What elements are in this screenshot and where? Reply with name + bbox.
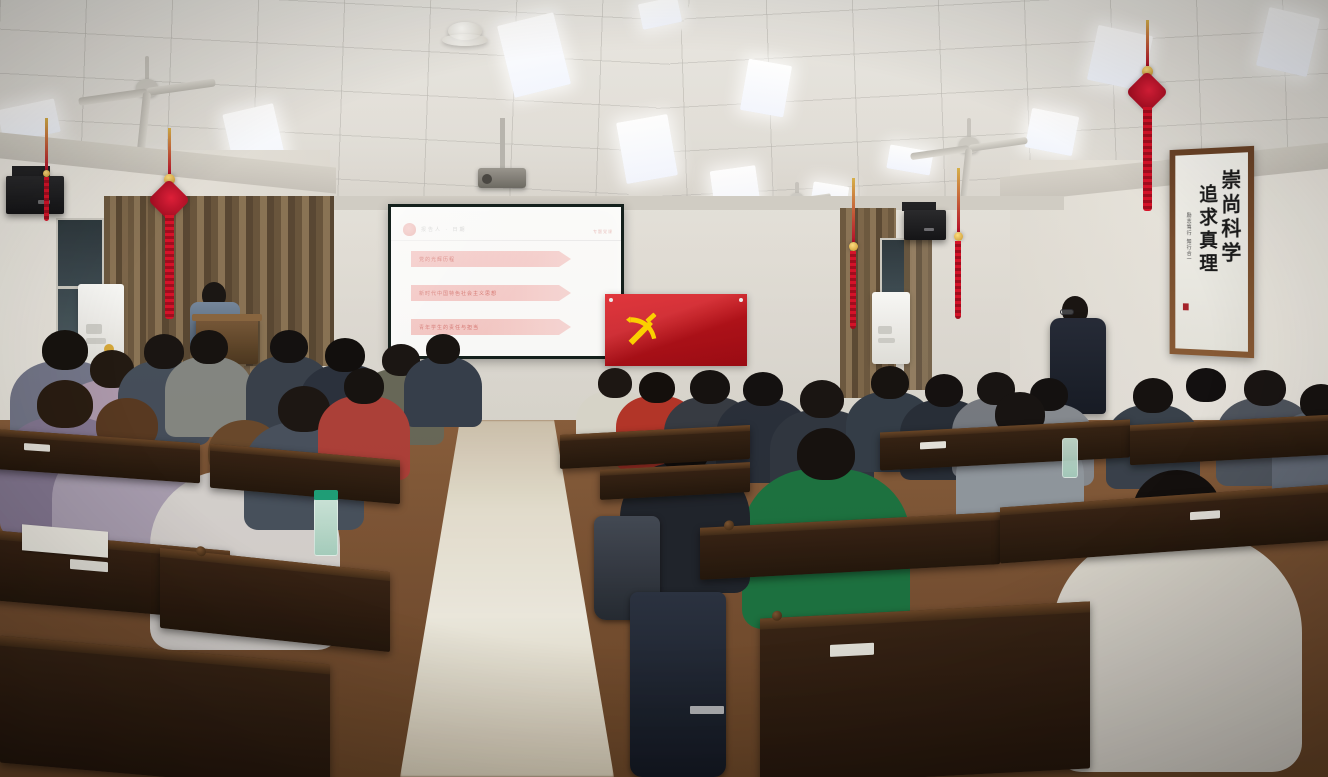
ornament-cord: [852, 178, 855, 242]
flag-pin-tl: [609, 298, 613, 302]
water-bottle[interactable]: [314, 498, 338, 556]
ornament-tassel: [44, 177, 49, 221]
calligraphy-column-left: 追求真理: [1196, 184, 1215, 276]
attendee-head: [344, 368, 384, 404]
fan-blade: [910, 145, 969, 160]
slide-arrow-row-3: 青年学生的责任与担当: [411, 319, 571, 335]
ornament-tassel: [165, 215, 174, 319]
attendee-head: [426, 334, 460, 364]
fan-blade: [969, 137, 1028, 152]
water-bottle-cap[interactable]: [314, 490, 338, 500]
projector-pole: [500, 118, 505, 170]
water-dispenser-right: [872, 292, 910, 364]
calligraphy-column-right: 崇尚科学: [1219, 169, 1240, 266]
fan-pole: [795, 182, 799, 194]
lectern-top: [192, 314, 262, 321]
slide-arrow-row-2: 新时代中国特色社会主义思想: [411, 285, 571, 301]
slide-arrow-row-label: 新时代中国特色社会主义思想: [411, 290, 497, 297]
table-row: [760, 601, 1090, 777]
ornament-cord: [1146, 20, 1149, 66]
ornament-tassel: [850, 251, 856, 329]
calligraphy-signature: 励志笃行 知行合一: [1186, 212, 1191, 262]
ornament-cord: [45, 118, 48, 170]
ornament-tassel: [955, 241, 961, 319]
calligraphy-seal: [1183, 303, 1189, 310]
attendee-head: [190, 330, 228, 364]
attendee-head: [797, 428, 855, 480]
ornament-medallion: [954, 232, 963, 241]
attendee-head: [800, 380, 844, 418]
projector-lens: [482, 174, 492, 184]
cpc-party-flag: [605, 294, 747, 366]
slide-arrow-row-1: 党的光辉历程: [411, 251, 571, 267]
attendee-r1-h: [404, 334, 482, 434]
ornament-cord: [168, 128, 171, 174]
calligraphy-paper: 崇尚科学 追求真理 励志笃行 知行合一: [1175, 152, 1248, 352]
slide-header-text: 报告人 · 日期: [421, 226, 466, 233]
ornament-tassel: [1143, 107, 1152, 211]
fan-pole: [145, 56, 149, 80]
fan-blade: [146, 78, 215, 96]
slide-header: 报告人 · 日期: [391, 221, 621, 241]
wall-speaker-right: [904, 210, 946, 240]
standing-attendee-glasses: [1060, 309, 1074, 315]
attendee-torso: [404, 357, 482, 427]
smoke-detector-base: [442, 34, 488, 46]
ceiling-fan-left: [72, 56, 222, 116]
wall-speaker-left: [6, 176, 64, 214]
hammer-and-sickle-icon: [621, 308, 663, 350]
ornament-medallion: [849, 242, 858, 251]
backpack-floor-center[interactable]: [630, 592, 726, 777]
wall-calligraphy: 崇尚科学 追求真理 励志笃行 知行合一: [1170, 146, 1254, 358]
lecture-hall-photo: 崇尚科学 追求真理 励志笃行 知行合一 报告人 · 日期 专题党课 党的光辉历程…: [0, 0, 1328, 777]
backpack-logo-text: [690, 706, 724, 714]
ornament-cord: [957, 168, 960, 232]
flag-pin-tr: [739, 298, 743, 302]
fan-pole: [967, 118, 971, 138]
panel-light-3: [616, 114, 678, 184]
water-bottle-secondary[interactable]: [1062, 438, 1078, 478]
speaker-logo-right: [924, 228, 934, 231]
fan-blade: [78, 88, 147, 106]
ornament-medallion: [43, 170, 50, 177]
slide-corner-text: 专题党课: [593, 229, 613, 235]
slide-arrow-row-label: 青年学生的责任与担当: [411, 324, 479, 331]
slide-logo-icon: [403, 223, 416, 236]
slide-arrow-row-label: 党的光辉历程: [411, 256, 455, 263]
panel-light-7: [740, 59, 792, 118]
